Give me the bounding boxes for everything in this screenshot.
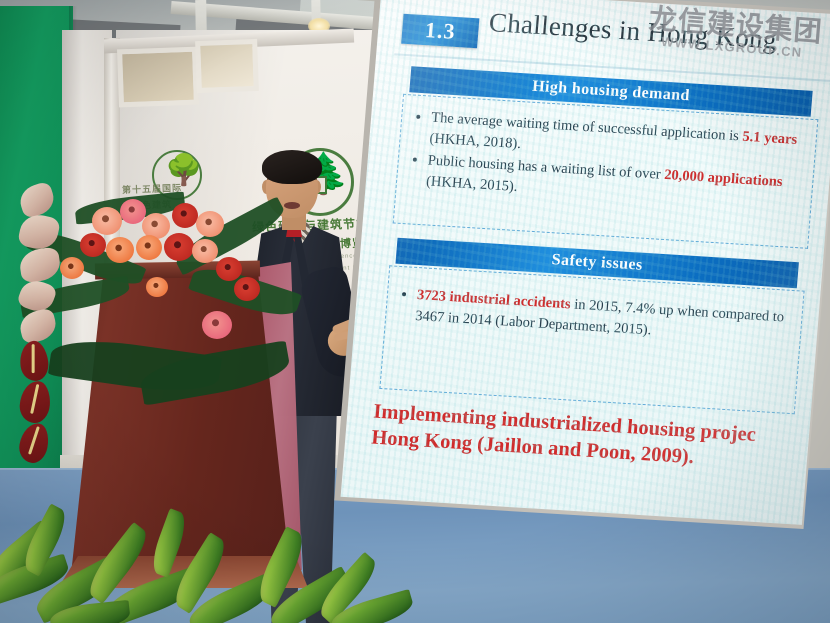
flower-bloom — [146, 277, 168, 297]
flower-bloom — [92, 207, 122, 235]
flower-arrangement — [20, 185, 280, 400]
flower-bloom — [136, 235, 162, 260]
flower-bloom — [192, 239, 218, 263]
photo-scene: 🌳 🌲 第十五届国际 绿色建筑 绿色建筑与建筑节能大会 新技术与产品博览会 In… — [0, 0, 830, 623]
bullet-highlight: 20,000 applications — [664, 167, 784, 190]
screen-surface: 1.3 Challenges in Hong Kong High housing… — [341, 0, 830, 525]
bullet-text: (HKHA, 2018). — [429, 130, 522, 152]
anthurium-bloom — [17, 339, 50, 383]
bullet-text: (HKHA, 2015). — [426, 173, 519, 195]
lily-bloom — [16, 180, 58, 219]
presentation-slide: 1.3 Challenges in Hong Kong High housing… — [341, 0, 830, 525]
flower-bloom — [80, 233, 106, 257]
flower-bloom — [216, 257, 242, 281]
foreground-plants — [0, 520, 460, 623]
booth-window — [117, 47, 199, 108]
bullet-highlight: 5.1 years — [742, 129, 798, 148]
slide-section-badge: 1.3 — [401, 14, 479, 49]
flower-bloom — [164, 233, 194, 261]
speaker-mouth — [284, 202, 300, 209]
flower-bloom — [106, 237, 134, 263]
booth-window — [195, 39, 259, 93]
flower-bloom — [172, 203, 198, 228]
speaker-hair — [262, 150, 322, 184]
slide-title: Challenges in Hong Kong — [488, 7, 830, 60]
flower-bloom — [196, 211, 224, 237]
flower-bloom — [202, 311, 232, 339]
lily-bloom — [18, 246, 62, 283]
projection-screen: 1.3 Challenges in Hong Kong High housing… — [334, 0, 830, 529]
flower-bloom — [60, 257, 84, 279]
flower-bloom — [234, 277, 260, 301]
